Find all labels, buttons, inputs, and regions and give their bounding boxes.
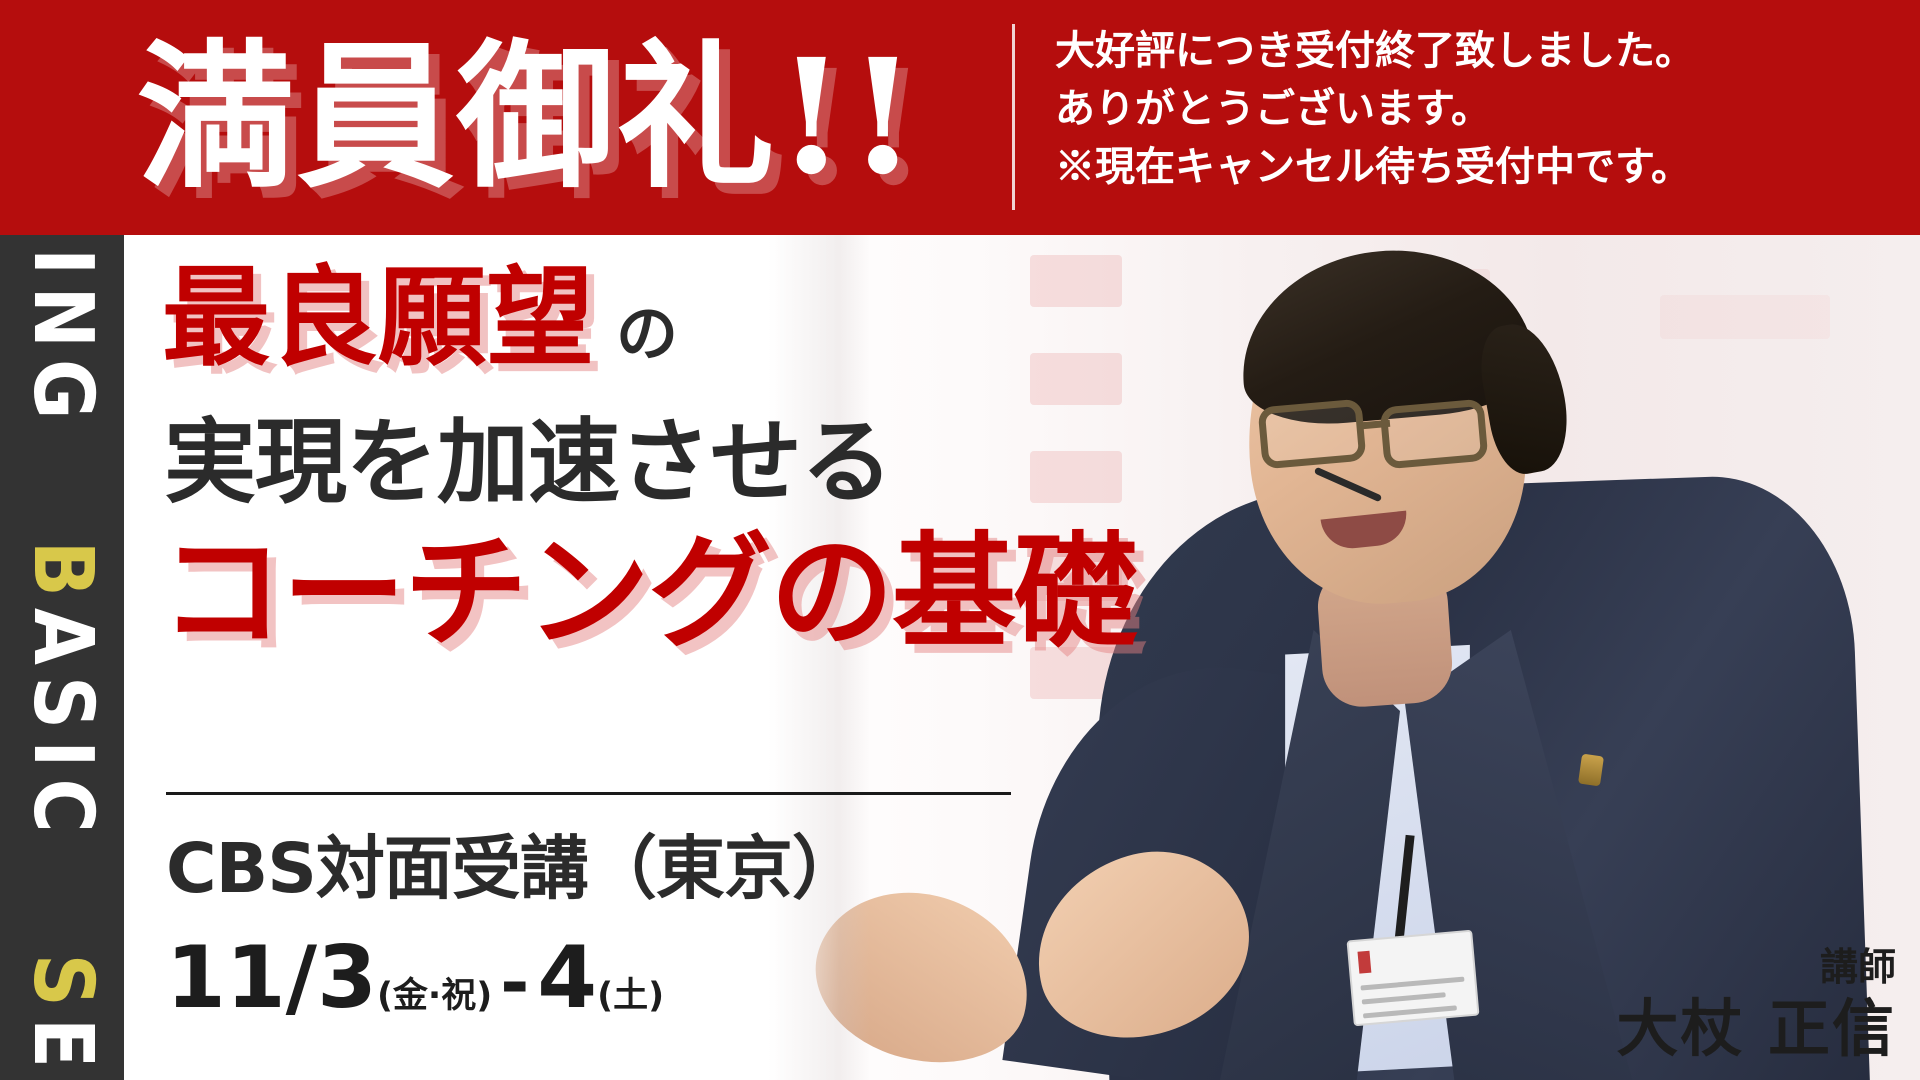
- sidebar-initial-s: S: [15, 953, 110, 1017]
- notice-line-3: ※現在キャンセル待ち受付中です。: [1055, 138, 1915, 196]
- sidebar-space-2: [15, 880, 110, 917]
- sidebar-initial-b: B: [15, 540, 110, 607]
- headline-line-1: 最良願望 の: [162, 265, 678, 373]
- badge-line-2: [1362, 992, 1446, 1004]
- vertical-divider: [1012, 24, 1015, 210]
- seminar-banner: 満員御礼!! 大好評につき受付終了致しました。 ありがとうございます。 ※現在キ…: [0, 0, 1920, 1080]
- date-separator: -: [500, 948, 529, 1018]
- horizontal-divider: [166, 792, 1011, 795]
- speaker-lapel-pin: [1578, 754, 1604, 787]
- date-day2: 4: [537, 935, 597, 1021]
- badge-accent: [1357, 951, 1371, 974]
- soldout-headline: 満員御礼!!: [91, 39, 920, 197]
- date-text: 11/3 (金·祝) - 4 (土): [166, 935, 664, 1021]
- main-content: 最良願望 の 実現を加速させる コーチングの基礎 CBS対面受講（東京） 11/…: [124, 235, 1024, 1080]
- notice-line-2: ありがとうございます。: [1055, 80, 1915, 138]
- sidebar-rest-seminar: EMINAR: [15, 1017, 110, 1080]
- instructor-role: 講師: [1616, 944, 1896, 992]
- bg-panel-3: [1030, 451, 1122, 503]
- notice-text-block: 大好評につき受付終了致しました。 ありがとうございます。 ※現在キャンセル待ち受…: [1055, 22, 1915, 196]
- vertical-sidebar: COACHING BASIC SEMINAR: [0, 235, 124, 1080]
- glasses-lens-right: [1379, 399, 1488, 470]
- bg-panel-1: [1030, 255, 1122, 307]
- sidebar-rest-basic: ASIC: [15, 607, 110, 843]
- headline-particle-no: の: [616, 303, 678, 365]
- headline-line-2: 実現を加速させる: [164, 417, 892, 509]
- venue-text: CBS対面受講（東京）: [166, 835, 860, 904]
- bg-panel-8: [1660, 295, 1830, 339]
- headline-red-emphasis: 最良願望: [162, 265, 594, 373]
- instructor-credit: 講師 大杖 正信: [1616, 944, 1896, 1066]
- instructor-name: 大杖 正信: [1616, 992, 1896, 1066]
- notice-line-1: 大好評につき受付終了致しました。: [1055, 22, 1915, 80]
- date-day1-note: (金·祝): [377, 979, 492, 1014]
- sidebar-space-1: [15, 467, 110, 504]
- top-red-banner: 満員御礼!! 大好評につき受付終了致しました。 ありがとうございます。 ※現在キ…: [0, 0, 1920, 235]
- sidebar-rest-coaching: OACHING: [15, 235, 110, 430]
- headline-line-3: コーチングの基礎: [160, 531, 1136, 655]
- glasses-lens-left: [1257, 399, 1366, 470]
- date-day1: 11/3: [166, 935, 377, 1021]
- badge-line-1: [1360, 977, 1464, 991]
- speaker-name-badge: [1346, 930, 1479, 1027]
- soldout-headline-wrap: 満員御礼!!: [0, 0, 1010, 235]
- badge-line-3: [1363, 1005, 1457, 1018]
- sidebar-series-label: COACHING BASIC SEMINAR: [21, 235, 103, 1080]
- bg-panel-2: [1030, 353, 1122, 405]
- date-day2-note: (土): [597, 979, 664, 1014]
